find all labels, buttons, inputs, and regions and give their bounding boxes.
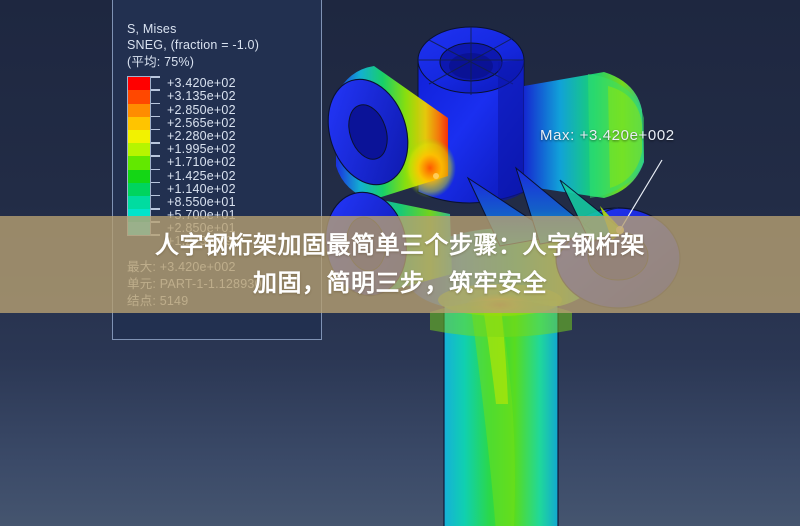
legend-swatch-9	[128, 196, 150, 209]
legend-average: (平均: 75%)	[127, 54, 321, 70]
legend-swatch-2	[128, 104, 150, 117]
legend-swatch-8	[128, 183, 150, 196]
legend-swatch-0	[128, 77, 150, 90]
title-overlay-band: 人字钢桁架加固最简单三个步骤：人字钢桁架 加固，简明三步，筑牢安全	[0, 216, 800, 313]
legend-value-1: +3.135e+02	[167, 90, 236, 103]
legend-swatch-7	[128, 170, 150, 183]
legend-swatch-3	[128, 117, 150, 130]
legend-swatch-6	[128, 156, 150, 169]
max-stress-annotation: Max: +3.420e+002	[540, 127, 675, 144]
legend-swatch-4	[128, 130, 150, 143]
legend-field-name: S, Mises	[127, 21, 321, 37]
legend-header: S, Mises SNEG, (fraction = -1.0) (平均: 75…	[127, 21, 321, 70]
fea-result-screenshot: Max: +3.420e+002 S, Mises SNEG, (fractio…	[0, 0, 800, 526]
overlay-title-line-2: 加固，简明三步，筑牢安全	[253, 265, 547, 303]
legend-value-2: +2.850e+02	[167, 104, 236, 117]
legend-value-6: +1.710e+02	[167, 156, 236, 169]
legend-value-3: +2.565e+02	[167, 117, 236, 130]
overlay-title-line-1: 人字钢桁架加固最简单三个步骤：人字钢桁架	[155, 227, 645, 265]
legend-value-7: +1.425e+02	[167, 170, 236, 183]
legend-section-point: SNEG, (fraction = -1.0)	[127, 37, 321, 53]
legend-swatch-1	[128, 90, 150, 103]
legend-swatch-5	[128, 143, 150, 156]
max-annotation-text: Max: +3.420e+002	[540, 127, 675, 144]
legend-swatch-column	[127, 76, 151, 236]
legend-value-8: +1.140e+02	[167, 183, 236, 196]
